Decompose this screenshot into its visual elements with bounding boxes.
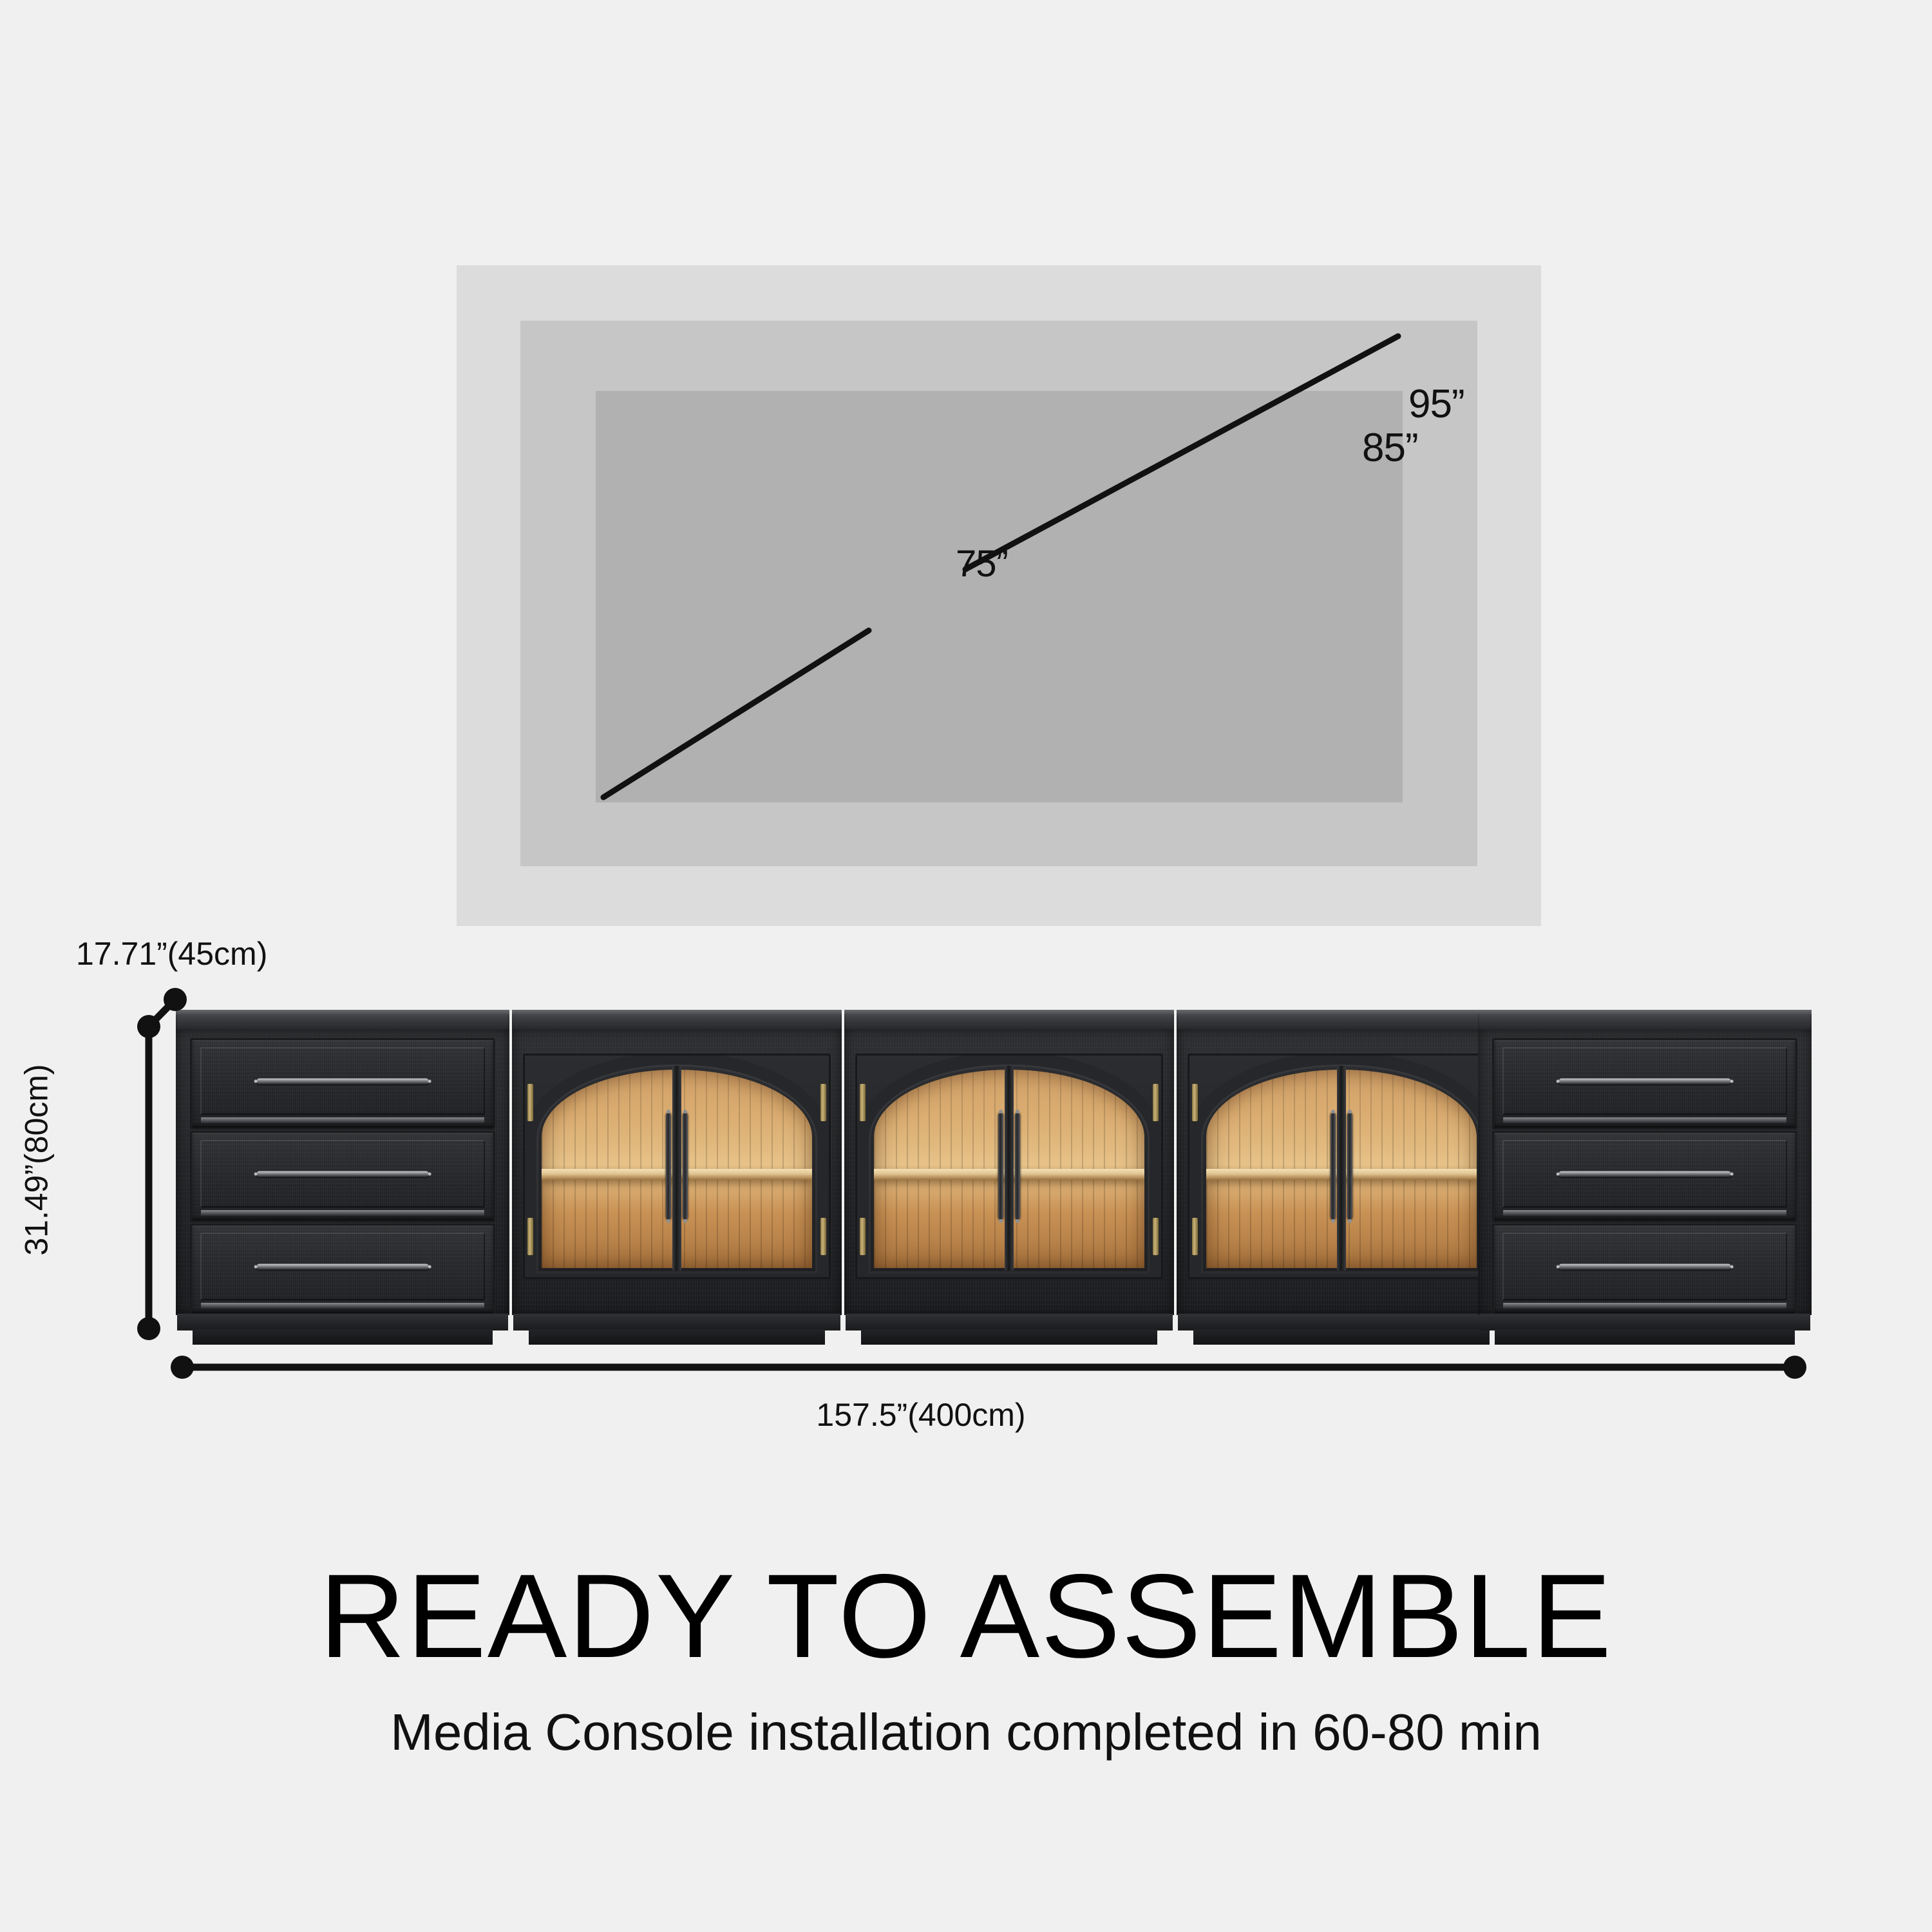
cabinet-hinge [820,1218,826,1255]
drawer-handle[interactable] [257,1171,429,1177]
cabinet-plinth [1479,1314,1810,1331]
cabinet-top-cap [844,1010,1174,1032]
cabinet-hinge [860,1218,866,1255]
cabinet-body [512,1029,842,1315]
width-dimension-label: 157.5”(400cm) [816,1396,1025,1434]
cabinet-door-handle-left[interactable] [666,1113,671,1219]
cabinet-body [176,1029,509,1315]
drawer-handle[interactable] [257,1264,429,1269]
drawer[interactable] [1492,1038,1797,1130]
cabinet-plinth [513,1314,840,1331]
depth-dim-dot-end [164,988,187,1011]
drawer-handle[interactable] [1559,1264,1731,1269]
cabinet-top-cap [1177,1010,1506,1032]
cabinet-door-split [1005,1066,1014,1271]
module-drawer-unit-right [1478,1010,1812,1345]
drawer-handle[interactable] [1559,1078,1731,1084]
cabinet-foot [861,1329,1157,1345]
cabinet-hinge [860,1084,866,1121]
page-subline: Media Console installation completed in … [0,1707,1932,1758]
cabinet-body [844,1029,1174,1315]
cabinet-glass-front[interactable] [855,1054,1163,1279]
page-headline: READY TO ASSEMBLE [0,1557,1932,1676]
cabinet-hinge [1192,1084,1198,1121]
tv-size-label-75: 75” [956,542,1008,585]
drawer[interactable] [190,1224,495,1315]
cabinet-hinge [1153,1084,1159,1121]
cabinet-hinge [527,1218,533,1255]
cabinet-plinth [177,1314,508,1331]
tv-size-label-85: 85” [1362,425,1418,471]
cabinet-glass-front[interactable] [1188,1054,1495,1279]
height-dimension-label: 31.49”(80cm) [18,1064,55,1255]
cabinet-plinth [1178,1314,1505,1331]
cabinet-door-handle-right[interactable] [1015,1113,1020,1219]
width-dim-dot-start [171,1356,194,1379]
cabinet-top-cap [176,1010,509,1032]
module-arched-cabinet-1 [512,1010,842,1345]
cabinet-foot [1193,1329,1490,1345]
drawer[interactable] [1492,1224,1797,1315]
cabinet-hinge [820,1084,826,1121]
drawer[interactable] [190,1131,495,1222]
module-arched-cabinet-3 [1177,1010,1506,1345]
cabinet-door-split [672,1066,681,1271]
cabinet-door-handle-right[interactable] [1347,1113,1352,1219]
drawer[interactable] [190,1038,495,1130]
cabinet-door-handle-left[interactable] [998,1113,1003,1219]
cabinet-foot [193,1329,493,1345]
cabinet-top-cap [1478,1010,1812,1032]
tv-diagonal-line [457,265,1541,926]
cabinet-foot [1495,1329,1795,1345]
drawer-handle[interactable] [1559,1171,1731,1177]
cabinet-door-split [1337,1066,1346,1271]
cabinet-top-cap [512,1010,842,1032]
depth-dim-dot-start [137,1015,160,1038]
tv-size-label-95: 95” [1408,381,1464,427]
depth-dimension-label: 17.71”(45cm) [76,935,267,972]
tv-size-diagram: 95” 85” 75” [457,265,1541,926]
cabinet-hinge [1153,1218,1159,1255]
cabinet-foot [529,1329,825,1345]
media-console-product-image [176,1010,1812,1345]
cabinet-hinge [1192,1218,1198,1255]
width-dim-dot-end [1783,1356,1806,1379]
cabinet-hinge [527,1084,533,1121]
module-arched-cabinet-2 [844,1010,1174,1345]
cabinet-body [1478,1029,1812,1315]
cabinet-plinth [846,1314,1173,1331]
drawer[interactable] [1492,1131,1797,1222]
drawer-handle[interactable] [257,1078,429,1084]
cabinet-door-handle-right[interactable] [683,1113,688,1219]
height-dim-dot-end [137,1317,160,1340]
depth-dimension-line [149,999,175,1027]
cabinet-body [1177,1029,1506,1315]
cabinet-glass-front[interactable] [523,1054,831,1279]
module-drawer-unit-left [176,1010,509,1345]
cabinet-door-handle-left[interactable] [1331,1113,1336,1219]
